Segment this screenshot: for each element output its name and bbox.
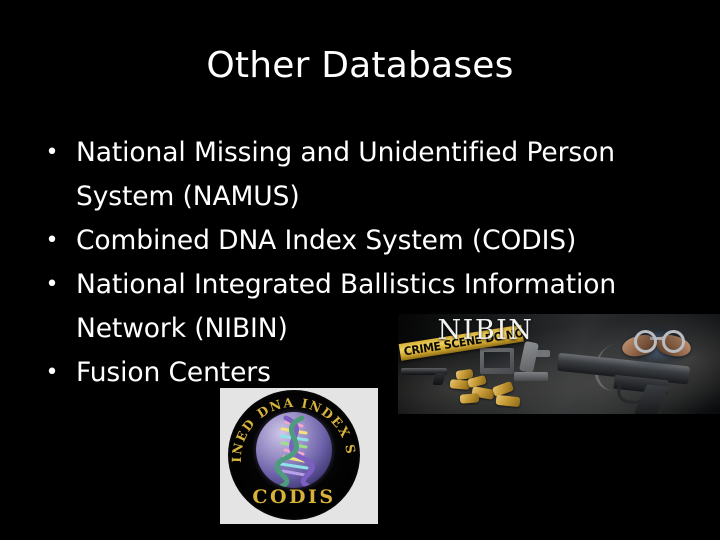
dna-helix-icon xyxy=(256,412,332,488)
gun-grip-graphic xyxy=(432,373,445,385)
codis-wordmark: CODIS xyxy=(228,486,360,508)
list-item: • Combined DNA Index System (CODIS) xyxy=(38,219,638,263)
handcuff-ring-graphic xyxy=(662,330,685,353)
microscope-base-graphic xyxy=(514,372,548,381)
list-item-line: System (NAMUS) xyxy=(76,175,638,219)
bullet-marker-icon: • xyxy=(44,351,60,395)
bullet-marker-icon: • xyxy=(44,219,60,263)
shell-casing-graphic xyxy=(460,393,480,403)
bullet-marker-icon: • xyxy=(44,263,60,307)
codis-sphere-graphic xyxy=(256,412,332,488)
nibin-wordmark: NIBIN xyxy=(398,314,573,348)
bullet-marker-icon: • xyxy=(44,131,60,175)
monitor-screen-graphic xyxy=(484,352,510,368)
codis-logo-image: COMBINED DNA INDEX SYSTEM xyxy=(220,388,378,524)
slide-canvas: Other Databases • National Missing and U… xyxy=(0,0,720,540)
shell-casing-graphic xyxy=(496,395,521,407)
list-item-line: Combined DNA Index System (CODIS) xyxy=(76,219,638,263)
list-item-line: National Integrated Ballistics Informati… xyxy=(76,263,638,307)
handcuffed-hands-graphic xyxy=(612,320,704,372)
handcuff-ring-graphic xyxy=(634,330,657,353)
page-title: Other Databases xyxy=(0,44,720,88)
nibin-banner-image: CRIME SCENE DO NOT CROSS NIBIN xyxy=(398,314,720,414)
codis-seal-graphic: COMBINED DNA INDEX SYSTEM xyxy=(228,390,360,520)
monitor-graphic xyxy=(480,348,514,374)
list-item-line: National Missing and Unidentified Person xyxy=(76,131,638,175)
list-item: • National Missing and Unidentified Pers… xyxy=(38,131,638,219)
